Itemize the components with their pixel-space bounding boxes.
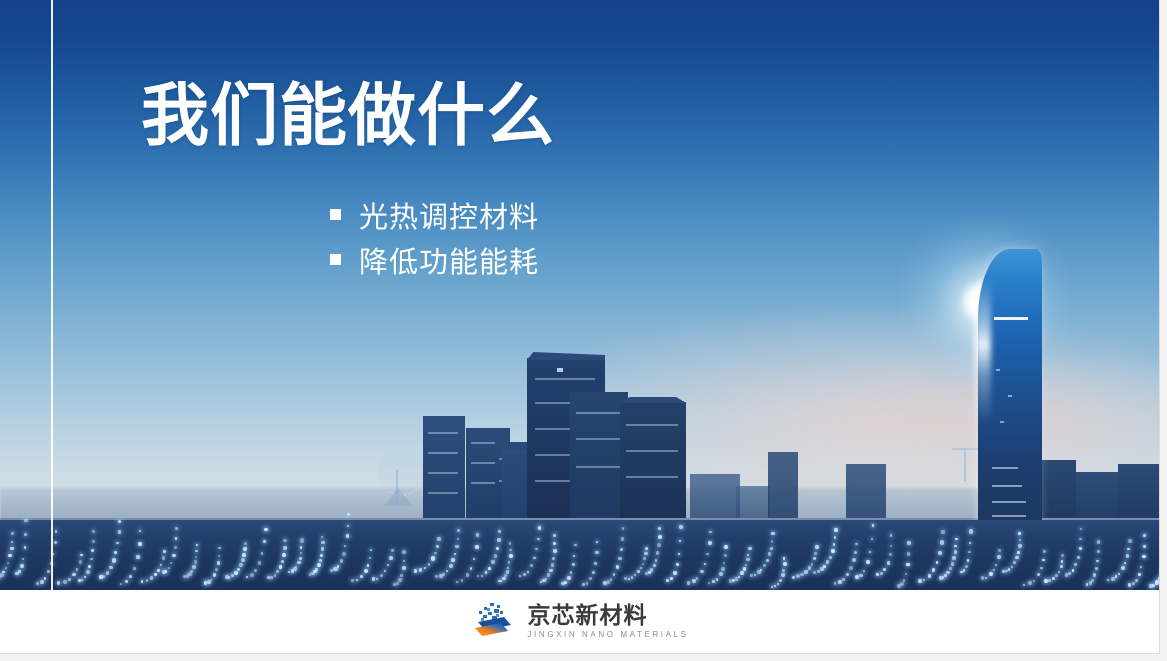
slide-footer: 京芯新材料 JINGXIN NANO MATERIALS	[0, 590, 1159, 653]
slide-page: 我们能做什么 光热调控材料 降低功能能耗	[0, 0, 1167, 661]
company-logo: 京芯新材料 JINGXIN NANO MATERIALS	[470, 602, 688, 642]
left-accent-rule	[51, 0, 53, 590]
square-bullet-icon	[330, 254, 341, 265]
light-trail-arcs	[0, 498, 1159, 590]
bullet-label: 光热调控材料	[359, 194, 539, 236]
page-title: 我们能做什么	[141, 79, 555, 154]
slide-frame: 我们能做什么 光热调控材料 降低功能能耗	[0, 0, 1159, 653]
tower-highlight-stripe	[994, 317, 1028, 320]
list-item: 降低功能能耗	[330, 237, 539, 282]
bullet-list: 光热调控材料 降低功能能耗	[330, 192, 539, 282]
logo-name-en: JINGXIN NANO MATERIALS	[527, 631, 688, 639]
logo-name-cn: 京芯新材料	[527, 604, 688, 627]
list-item: 光热调控材料	[330, 192, 539, 237]
jingxin-nano-logo-mark	[470, 602, 518, 642]
landmark-tower	[978, 249, 1042, 534]
square-bullet-icon	[330, 209, 341, 220]
logo-text-block: 京芯新材料 JINGXIN NANO MATERIALS	[527, 604, 688, 639]
bullet-label: 降低功能能耗	[359, 239, 539, 281]
